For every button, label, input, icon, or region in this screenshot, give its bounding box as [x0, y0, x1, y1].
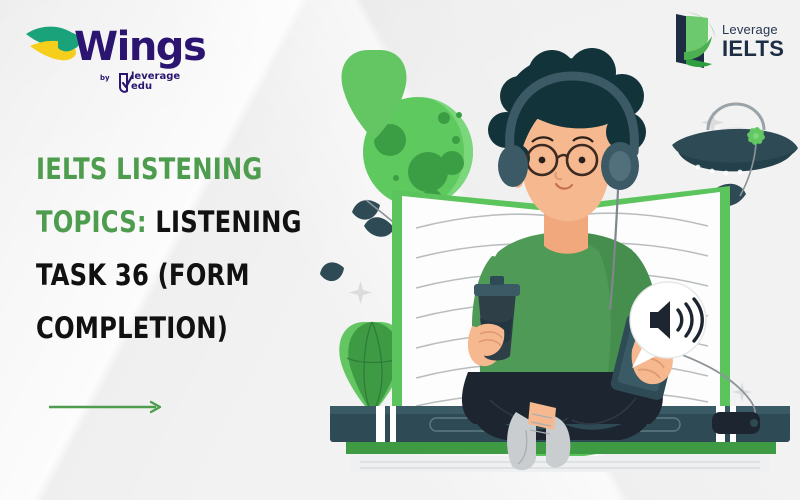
green-arrow-icon — [48, 400, 168, 414]
wings-by-label: by — [100, 74, 110, 82]
student-listening-illustration — [320, 0, 800, 500]
poster-canvas: Wings by leverage edu Leverage IELTS IEL… — [0, 0, 800, 500]
wings-logo[interactable]: Wings by leverage edu — [14, 12, 189, 100]
wings-wordmark: Wings — [74, 24, 205, 70]
ufo-icon — [672, 104, 798, 175]
leverage-edu-line2: edu — [131, 82, 180, 92]
page-title: IELTS LISTENING TOPICS: LISTENING TASK 3… — [36, 143, 315, 355]
audio-device — [712, 412, 760, 434]
leverage-edu-wordmark: leverage edu — [131, 72, 180, 92]
